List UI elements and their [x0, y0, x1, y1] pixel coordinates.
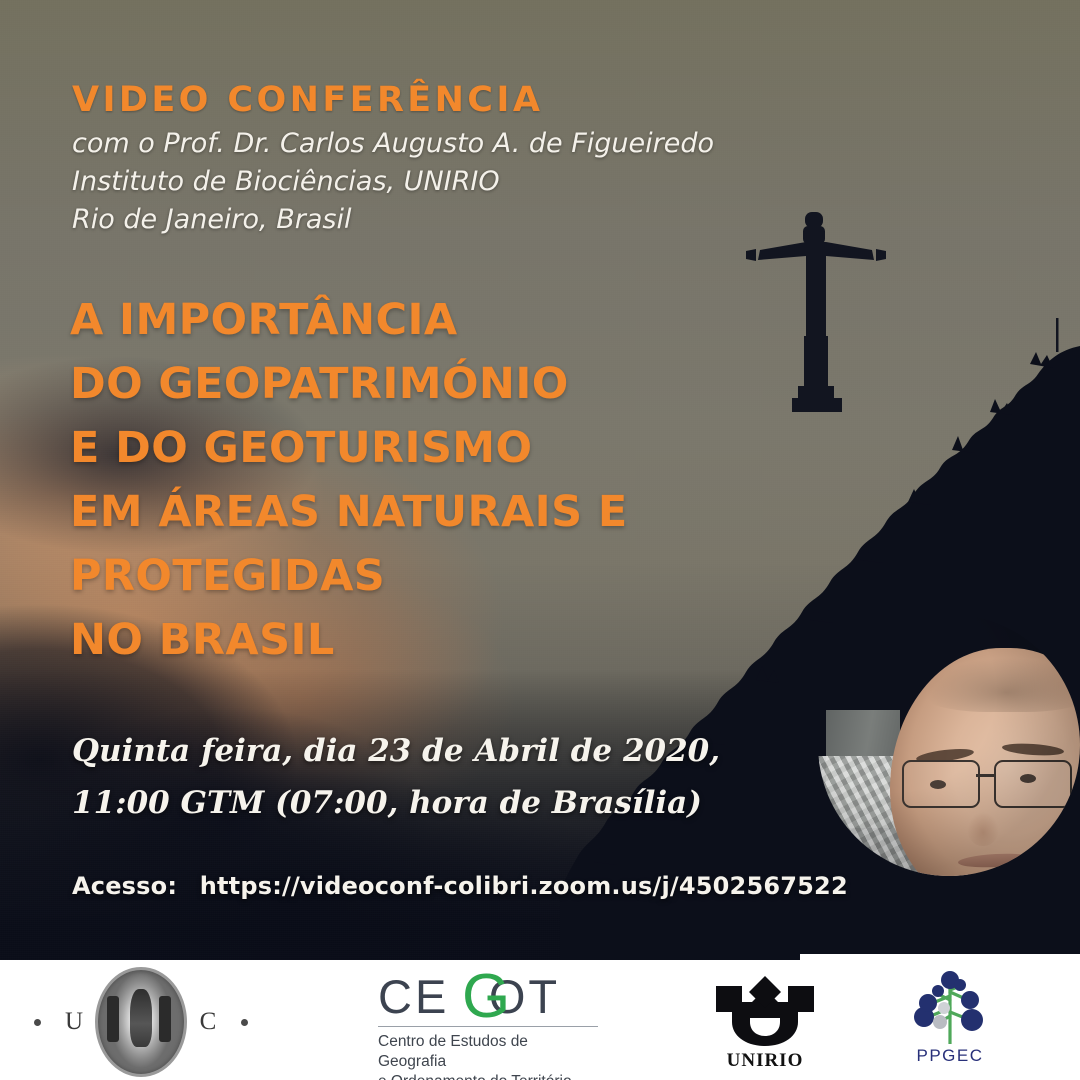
speaker-line-3: Rio de Janeiro, Brasil [72, 201, 772, 239]
logo-bar: U C CEGOT G Centro de Estudos de Geograf… [0, 960, 1080, 1080]
access-line: Acesso: https://videoconf-colibri.zoom.u… [72, 872, 848, 900]
page-title: A IMPORTÂNCIA DO GEOPATRIMÓNIO E DO GEOT… [70, 288, 710, 672]
uc-dot-right [241, 1019, 248, 1026]
cegot-logo: CEGOT G Centro de Estudos de Geografia e… [378, 972, 598, 1072]
title-line-5: PROTEGIDAS [70, 544, 710, 608]
cegot-subtitle: Centro de Estudos de Geografia e Ordenam… [378, 1032, 598, 1080]
cegot-letters-ce: CE [378, 970, 449, 1023]
speaker-portrait [818, 614, 1080, 876]
event-date-line: Quinta feira, dia 23 de Abril de 2020, [72, 725, 772, 777]
ppgec-logo: PPGEC [890, 970, 1010, 1074]
event-time-line: 11:00 GTM (07:00, hora de Brasília) [72, 777, 772, 829]
cegot-letter-g: G [462, 966, 513, 1028]
speaker-block: com o Prof. Dr. Carlos Augusto A. de Fig… [72, 125, 772, 239]
event-datetime: Quinta feira, dia 23 de Abril de 2020, 1… [72, 725, 772, 829]
portrait-vignette [818, 614, 1080, 876]
title-line-4: EM ÁREAS NATURAIS E [70, 480, 710, 544]
title-line-6: NO BRASIL [70, 608, 710, 672]
uc-letter-c: C [191, 1008, 225, 1036]
antenna-mast [1056, 318, 1059, 352]
speaker-line-2: Instituto de Biociências, UNIRIO [72, 163, 772, 201]
title-line-1: A IMPORTÂNCIA [70, 288, 710, 352]
access-url-link[interactable]: https://videoconf-colibri.zoom.us/j/4502… [200, 872, 848, 900]
uc-logo: U C [18, 968, 318, 1076]
access-label: Acesso: [72, 872, 177, 900]
unirio-logo: UNIRIO [700, 974, 830, 1074]
uc-letter-u: U [57, 1008, 91, 1036]
cegot-wordmark: CEGOT G [378, 972, 598, 1022]
unirio-wordmark: UNIRIO [700, 1050, 830, 1072]
ppgec-wordmark: PPGEC [890, 1046, 1010, 1066]
portrait-image [818, 614, 1080, 876]
unirio-u-diamond-icon [700, 974, 830, 1048]
uc-dot-left [34, 1019, 41, 1026]
page-kicker: VIDEO CONFERÊNCIA [72, 80, 543, 120]
speaker-line-1: com o Prof. Dr. Carlos Augusto A. de Fig… [72, 125, 772, 163]
title-line-3: E DO GEOTURISMO [70, 416, 710, 480]
conference-poster: VIDEO CONFERÊNCIA com o Prof. Dr. Carlos… [0, 0, 1080, 1080]
uc-seal-icon [95, 967, 187, 1077]
ppgec-tree-icon [890, 970, 1010, 1044]
christ-redeemer-statue-icon [746, 212, 886, 412]
title-line-2: DO GEOPATRIMÓNIO [70, 352, 710, 416]
cegot-subtitle-line-2: e Ordenamento do Território [378, 1072, 598, 1080]
cegot-subtitle-line-1: Centro de Estudos de Geografia [378, 1032, 598, 1072]
